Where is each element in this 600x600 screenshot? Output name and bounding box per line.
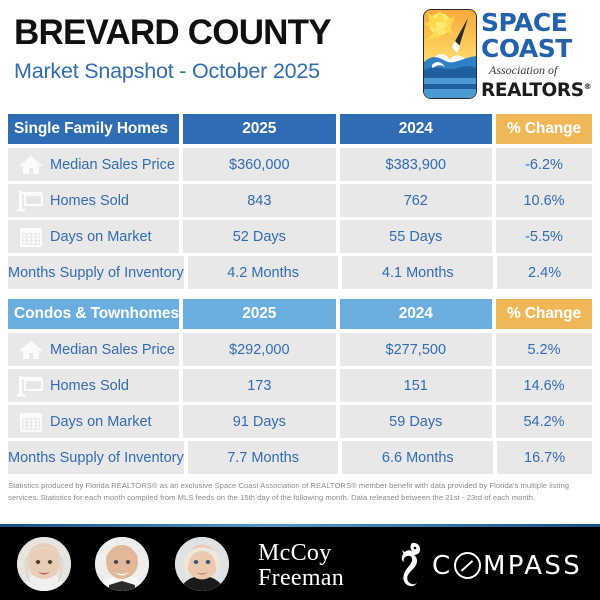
infographic-page: BREVARD COUNTY Market Snapshot - October…	[0, 0, 600, 600]
logo-line-association: Association of	[481, 63, 595, 77]
seahorse-icon	[393, 540, 427, 588]
row-value-2024: 4.1 Months	[342, 256, 493, 289]
row-value-change: 54.2%	[496, 405, 592, 438]
table-header-row: Single Family Homes 2025 2024 % Change	[8, 114, 592, 144]
row-label-cell: SOLD Homes Sold	[8, 184, 179, 217]
calendar-icon	[14, 409, 48, 435]
logo-line-space: SPACE	[481, 10, 595, 36]
row-value-2024: 6.6 Months	[342, 441, 493, 474]
row-label: Homes Sold	[50, 193, 129, 209]
mccoy-freeman-wordmark: McCoy Freeman	[258, 541, 344, 590]
row-value-change: 5.2%	[496, 333, 592, 366]
header: BREVARD COUNTY Market Snapshot - October…	[0, 0, 600, 108]
row-value-change: 16.7%	[497, 441, 592, 474]
row-value-2025: 843	[183, 184, 335, 217]
table-col-2024-header: 2024	[340, 299, 492, 329]
brand-line-2: Freeman	[258, 566, 344, 590]
disclaimer-text: Statistics produced by Florida REALTORS®…	[8, 480, 592, 503]
row-value-2025: 7.7 Months	[188, 441, 339, 474]
table-col-2025-header: 2025	[183, 114, 335, 144]
row-value-2024: $277,500	[340, 333, 492, 366]
svg-text:SOLD: SOLD	[27, 198, 41, 204]
page-title: BREVARD COUNTY	[14, 12, 414, 54]
compass-slashed-o-icon	[454, 552, 481, 579]
compass-suffix: MPASS	[483, 553, 582, 579]
avatar	[17, 537, 71, 591]
brand-line-1: McCoy	[258, 540, 332, 566]
registered-mark: ®	[584, 82, 592, 91]
calendar-icon	[14, 224, 48, 250]
avatar	[175, 537, 229, 591]
row-value-2025: 52 Days	[183, 220, 335, 253]
row-label: Months Supply of Inventory	[8, 265, 184, 281]
title-block: BREVARD COUNTY Market Snapshot - October…	[14, 12, 414, 84]
row-label: Median Sales Price	[50, 157, 175, 173]
row-label-cell: Days on Market	[8, 405, 179, 438]
table-row: Days on Market 52 Days 55 Days -5.5%	[8, 220, 592, 253]
row-value-2025: $292,000	[183, 333, 335, 366]
row-value-change: -6.2%	[496, 148, 592, 181]
row-label: Homes Sold	[50, 378, 129, 394]
logo-realtors-text: REALTORS	[481, 80, 584, 101]
avatar	[95, 537, 149, 591]
compass-wordmark: C MPASS	[432, 552, 582, 579]
house-icon	[14, 152, 48, 178]
row-label-cell: Median Sales Price	[8, 333, 179, 366]
logo-artwork	[424, 10, 476, 98]
table-category-header: Condos & Townhomes	[8, 299, 179, 329]
row-value-2024: 151	[340, 369, 492, 402]
logo-line-coast: COAST	[481, 36, 595, 62]
condos-townhomes-table: Condos & Townhomes 2025 2024 % Change Me…	[8, 299, 592, 477]
table-row: SOLD Homes Sold 843 762 10.6%	[8, 184, 592, 217]
row-value-change: 10.6%	[496, 184, 592, 217]
table-col-change-header: % Change	[496, 299, 592, 329]
house-icon	[14, 337, 48, 363]
footer: McCoy Freeman C MPASS	[0, 527, 600, 600]
row-value-change: 2.4%	[497, 256, 592, 289]
row-label-cell: Months Supply of Inventory	[8, 441, 184, 474]
row-label-cell: Median Sales Price	[8, 148, 179, 181]
row-label-cell: Days on Market	[8, 220, 179, 253]
row-label: Median Sales Price	[50, 342, 175, 358]
row-label: Days on Market	[50, 414, 152, 430]
row-value-2025: 91 Days	[183, 405, 335, 438]
compass-prefix: C	[432, 553, 453, 579]
table-col-change-header: % Change	[496, 114, 592, 144]
logo-wordmark: SPACE COAST Association of REALTORS®	[481, 10, 595, 100]
table-col-2024-header: 2024	[340, 114, 492, 144]
table-category-header: Single Family Homes	[8, 114, 179, 144]
logo-line-realtors: REALTORS®	[481, 77, 595, 100]
single-family-homes-table: Single Family Homes 2025 2024 % Change M…	[8, 114, 592, 292]
row-label-cell: SOLD Homes Sold	[8, 369, 179, 402]
row-value-2024: $383,900	[340, 148, 492, 181]
table-row: Months Supply of Inventory 4.2 Months 4.…	[8, 256, 592, 289]
row-value-2025: 4.2 Months	[188, 256, 339, 289]
row-value-2025: $360,000	[183, 148, 335, 181]
table-row: SOLD Homes Sold 173 151 14.6%	[8, 369, 592, 402]
table-header-row: Condos & Townhomes 2025 2024 % Change	[8, 299, 592, 329]
row-value-2024: 59 Days	[340, 405, 492, 438]
table-col-2025-header: 2025	[183, 299, 335, 329]
row-value-change: 14.6%	[496, 369, 592, 402]
table-row: Median Sales Price $292,000 $277,500 5.2…	[8, 333, 592, 366]
row-label-cell: Months Supply of Inventory	[8, 256, 184, 289]
table-row: Months Supply of Inventory 7.7 Months 6.…	[8, 441, 592, 474]
table-row: Median Sales Price $360,000 $383,900 -6.…	[8, 148, 592, 181]
row-label: Months Supply of Inventory	[8, 450, 184, 466]
table-row: Days on Market 91 Days 59 Days 54.2%	[8, 405, 592, 438]
sold-sign-icon: SOLD	[14, 188, 48, 214]
row-label: Days on Market	[50, 229, 152, 245]
row-value-2024: 762	[340, 184, 492, 217]
row-value-2024: 55 Days	[340, 220, 492, 253]
sold-sign-icon: SOLD	[14, 373, 48, 399]
row-value-2025: 173	[183, 369, 335, 402]
row-value-change: -5.5%	[496, 220, 592, 253]
svg-text:SOLD: SOLD	[27, 383, 41, 389]
page-subtitle: Market Snapshot - October 2025	[14, 58, 414, 84]
space-coast-rocket-wave-logo-icon	[423, 9, 477, 99]
space-coast-logo: SPACE COAST Association of REALTORS®	[423, 6, 595, 102]
